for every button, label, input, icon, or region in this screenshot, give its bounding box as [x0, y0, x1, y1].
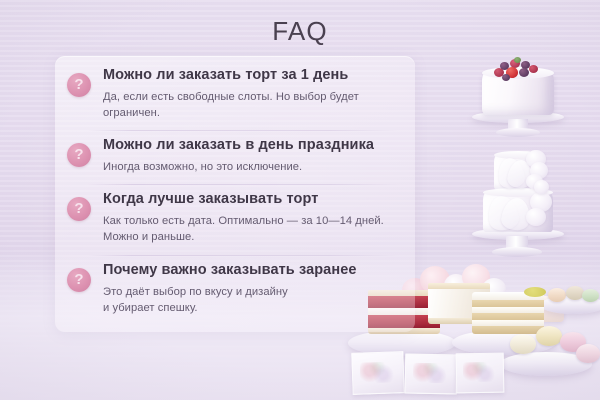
faq-item[interactable]: ? Почему важно заказывать заранее Это да…	[55, 255, 415, 325]
faq-item[interactable]: ? Можно ли заказать торт за 1 день Да, е…	[55, 60, 415, 130]
page-title: FAQ	[0, 16, 600, 47]
question-mark-glyph: ?	[67, 143, 91, 167]
faq-list: ? Можно ли заказать торт за 1 день Да, е…	[55, 60, 415, 325]
question-mark-glyph: ?	[67, 73, 91, 97]
faq-answer: Это даёт выбор по вкусу и дизайну и убир…	[103, 284, 401, 316]
faq-item[interactable]: ? Когда лучше заказывать торт Как только…	[55, 184, 415, 254]
faq-answer: Иногда возможно, но это исключение.	[103, 159, 401, 175]
faq-item[interactable]: ? Можно ли заказать в день праздника Ино…	[55, 130, 415, 184]
faq-answer: Да, если есть свободные слоты. Но выбор …	[103, 89, 401, 121]
question-mark-icon: ?	[67, 143, 91, 167]
question-mark-glyph: ?	[67, 197, 91, 221]
faq-question: Почему важно заказывать заранее	[103, 262, 401, 280]
question-mark-icon: ?	[67, 268, 91, 292]
question-mark-icon: ?	[67, 197, 91, 221]
faq-answer: Как только есть дата. Оптимально — за 10…	[103, 213, 401, 245]
faq-question: Когда лучше заказывать торт	[103, 191, 401, 209]
question-mark-icon: ?	[67, 73, 91, 97]
faq-question: Можно ли заказать торт за 1 день	[103, 67, 401, 85]
question-mark-glyph: ?	[67, 268, 91, 292]
faq-question: Можно ли заказать в день праздника	[103, 137, 401, 155]
